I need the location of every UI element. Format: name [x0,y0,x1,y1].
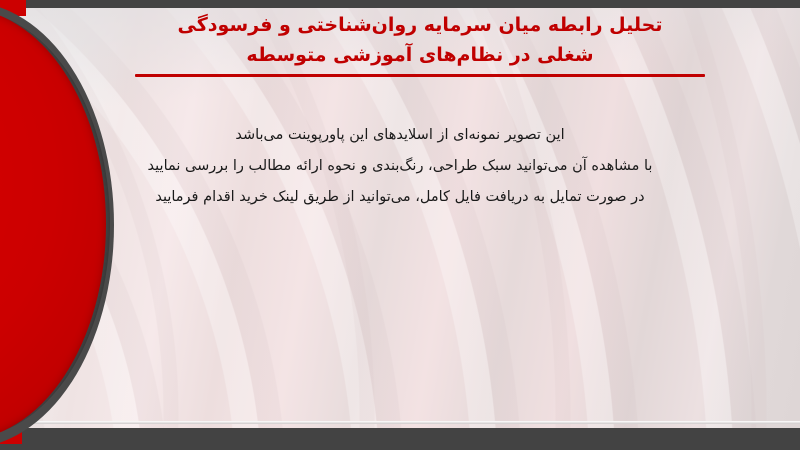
panel-gradient-background [0,8,800,428]
slide-title: تحلیل رابطه میان سرمایه روان‌شناختی و فر… [120,10,720,70]
body-line-3: در صورت تمایل به دریافت فایل کامل، می‌تو… [110,182,690,213]
slide-title-line-1: تحلیل رابطه میان سرمایه روان‌شناختی و فر… [120,10,720,40]
presentation-slide: تحلیل رابطه میان سرمایه روان‌شناختی و فر… [0,0,800,450]
body-line-2: با مشاهده آن می‌توانید سبک طراحی، رنگ‌بن… [110,151,690,182]
slide-content-panel [0,8,800,428]
slide-body-text: این تصویر نمونه‌ای از اسلایدهای این پاور… [110,120,690,213]
slide-title-line-2: شغلی در نظام‌های آموزشی متوسطه [120,40,720,70]
body-line-1: این تصویر نمونه‌ای از اسلایدهای این پاور… [110,120,690,151]
panel-bottom-highlight [0,421,800,424]
title-underline-rule [135,74,705,77]
